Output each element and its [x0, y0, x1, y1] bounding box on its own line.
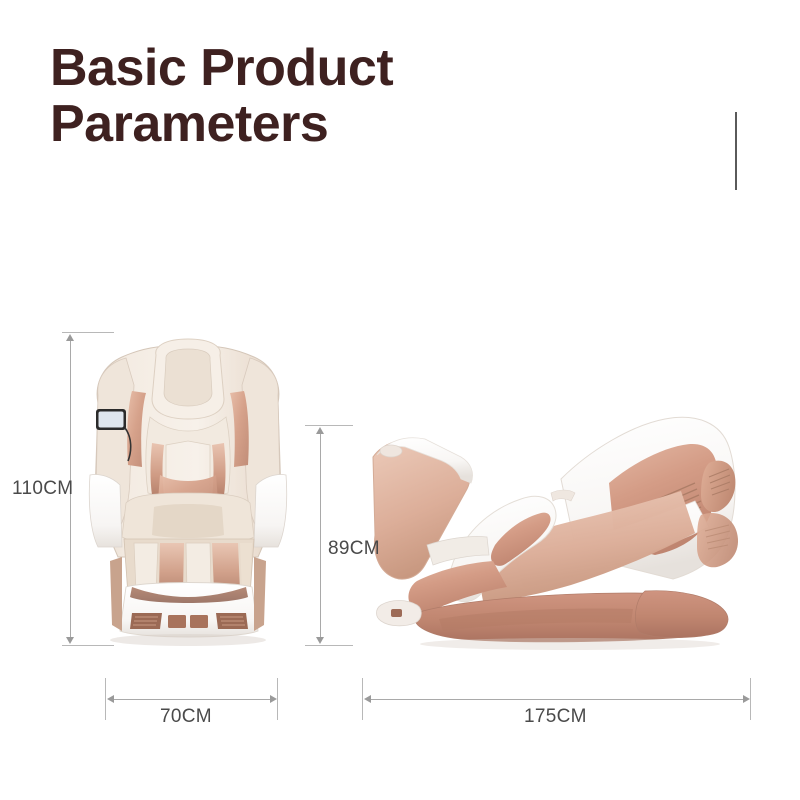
dim-70-line [109, 699, 274, 700]
dim-110-tick-top [62, 332, 114, 333]
dim-70-arrow-right [270, 695, 277, 703]
dim-89-tick-bottom [305, 645, 353, 646]
dim-175-arrow-right [743, 695, 750, 703]
dim-89-tick-top [305, 425, 353, 426]
front-foot-detail [391, 609, 402, 617]
dim-70-arrow-left [107, 695, 114, 703]
left-base-rail [110, 557, 122, 631]
seat-center-pad [152, 504, 224, 538]
dim-175-label: 175CM [524, 706, 587, 728]
dim-175-tick-right [750, 678, 751, 720]
headrest-inner-pad [164, 349, 212, 406]
dim-70-tick-right [277, 678, 278, 720]
dim-110-tick-bottom [62, 645, 114, 646]
dim-89-arrow-bottom [316, 637, 324, 644]
left-armrest [89, 474, 122, 547]
page-title: Basic Product Parameters [50, 40, 520, 152]
dim-175-line [366, 699, 747, 700]
side-view-shadow [420, 638, 720, 650]
base-rear-block [635, 591, 728, 638]
dim-110-arrow-bottom [66, 637, 74, 644]
ottoman-end-cap [380, 445, 402, 457]
title-divider-rule [735, 112, 737, 190]
dim-175-tick-left [362, 678, 363, 720]
dim-70-label: 70CM [160, 706, 212, 728]
dim-89-arrow-top [316, 427, 324, 434]
dim-175-arrow-left [364, 695, 371, 703]
seat-control-detail [551, 490, 575, 501]
massage-chair-front-view [88, 325, 288, 650]
dim-89-line [320, 429, 321, 642]
dim-110-label: 110CM [12, 478, 73, 500]
massage-chair-side-view [365, 405, 760, 655]
right-armrest [254, 474, 287, 547]
right-base-rail [254, 557, 266, 631]
dim-70-tick-left [105, 678, 106, 720]
dim-89-label: 89CM [328, 538, 380, 560]
front-view-shadow [110, 634, 266, 646]
product-parameters-page: Basic Product Parameters [0, 0, 800, 800]
dim-110-arrow-top [66, 334, 74, 341]
